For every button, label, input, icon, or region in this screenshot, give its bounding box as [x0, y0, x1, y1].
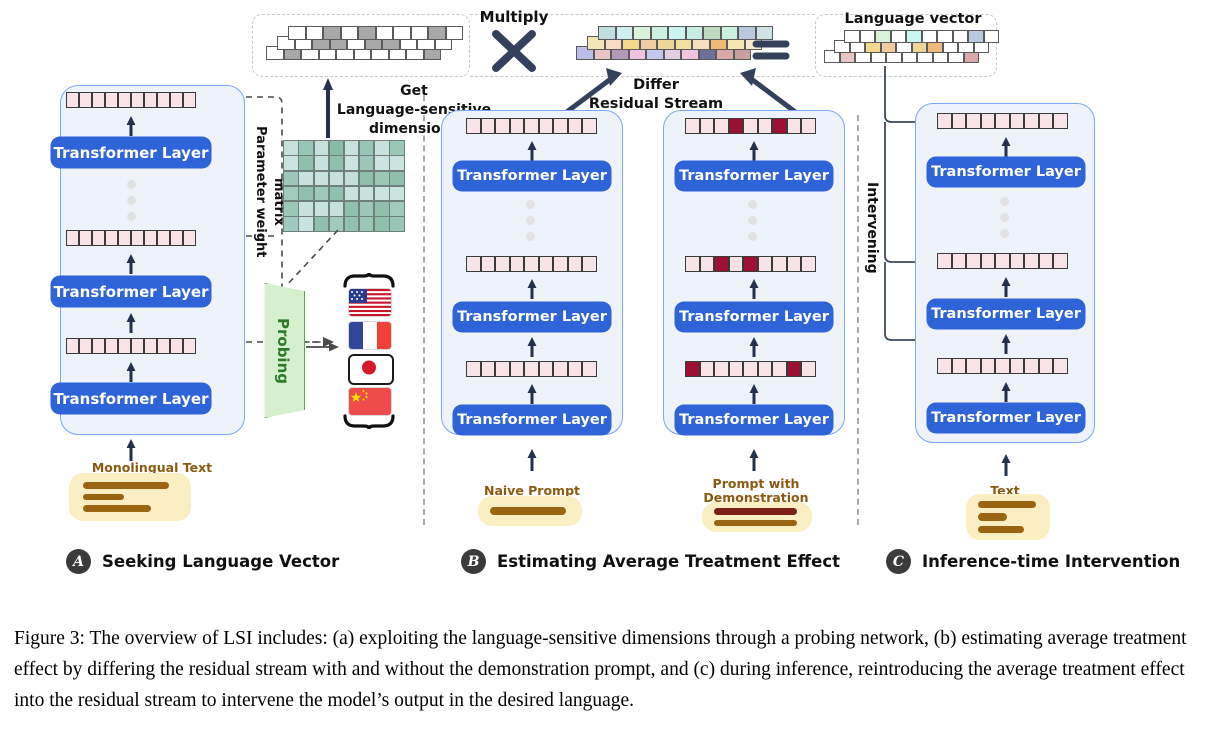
divider-b-c — [857, 115, 859, 525]
vector-cell — [906, 30, 922, 43]
vector-cell — [875, 30, 891, 43]
matrix-cell — [315, 172, 329, 186]
vector-cell — [510, 118, 525, 134]
vector-cell — [481, 256, 496, 272]
ellipsis-dots-a — [127, 180, 136, 221]
vector-cell — [481, 361, 496, 377]
matrix-cell — [390, 217, 404, 231]
vector-cell — [772, 118, 787, 134]
matrix-cell — [345, 156, 359, 170]
vector-cell — [568, 118, 583, 134]
vector-cell — [79, 92, 92, 108]
brace-top-icon — [342, 272, 396, 288]
vector-cell — [553, 361, 568, 377]
transformer-layer-b-demo-1: Transformer Layer — [676, 406, 832, 434]
vector-cell — [144, 92, 157, 108]
monolingual-text-bubble — [69, 473, 191, 521]
vector-cell — [714, 361, 729, 377]
vector-cell — [288, 26, 306, 40]
vector-cell — [510, 361, 525, 377]
prompt-with-demonstration-bubble — [702, 502, 812, 532]
vector-cell — [1053, 113, 1068, 129]
vector-cell — [131, 338, 144, 354]
vector-cell — [539, 361, 554, 377]
vector-cell — [922, 30, 938, 43]
matrix-cell — [299, 187, 313, 201]
vector-cell — [844, 30, 860, 43]
vector-cell — [1053, 253, 1068, 269]
arrow-up-icon — [999, 453, 1013, 477]
matrix-cell — [375, 156, 389, 170]
arrow-up-icon — [525, 278, 539, 300]
differ-residual-stream-label: Differ Residual Stream — [576, 76, 736, 114]
transformer-layer-b-demo-2: Transformer Layer — [676, 303, 832, 331]
matrix-cell — [299, 172, 313, 186]
vector-cell — [358, 26, 376, 40]
vector-cell — [118, 92, 131, 108]
vector-cell — [428, 26, 446, 40]
arrow-up-icon — [124, 311, 138, 335]
vector-cell — [582, 256, 597, 272]
vector-cell — [772, 256, 787, 272]
arrow-up-icon — [747, 140, 761, 162]
vector-cell — [952, 113, 967, 129]
vector-cell — [937, 113, 952, 129]
vector-cell — [495, 118, 510, 134]
matrix-cell — [330, 187, 344, 201]
vector-cell — [598, 26, 616, 40]
matrix-cell — [375, 202, 389, 216]
vector-cell — [1024, 253, 1039, 269]
vector-cell — [582, 361, 597, 377]
vector-cell — [92, 230, 105, 246]
matrix-cell — [360, 202, 374, 216]
flag-china-icon — [348, 387, 392, 416]
vector-cell — [743, 256, 758, 272]
matrix-cell — [390, 172, 404, 186]
matrix-cell — [284, 187, 298, 201]
section-title-b: Estimating Average Treatment Effect — [497, 552, 840, 571]
vector-cell — [568, 256, 583, 272]
vector-cell — [553, 256, 568, 272]
vector-cell — [758, 361, 773, 377]
vector-cell — [860, 30, 876, 43]
arrow-up-icon — [999, 276, 1013, 298]
vector-cell — [524, 256, 539, 272]
vector-cell — [1053, 358, 1068, 374]
vector-cell — [937, 358, 952, 374]
matrix-cell — [299, 141, 313, 155]
residual-stream-vectors — [576, 26, 762, 70]
vector-a-bottom — [66, 338, 196, 354]
vector-b-demo-middle — [685, 256, 816, 272]
vector-cell — [952, 253, 967, 269]
vector-cell — [937, 253, 952, 269]
arrow-up-icon — [525, 140, 539, 162]
vector-cell — [685, 256, 700, 272]
matrix-cell — [284, 156, 298, 170]
vector-cell — [105, 338, 118, 354]
vector-cell — [1039, 358, 1054, 374]
vector-cell — [758, 118, 773, 134]
vector-cell — [995, 358, 1010, 374]
vector-cell — [758, 256, 773, 272]
vector-cell — [1010, 253, 1025, 269]
matrix-cell — [345, 187, 359, 201]
vector-cell — [686, 26, 704, 40]
vector-cell — [981, 253, 996, 269]
language-vector-label: Language vector — [838, 10, 988, 29]
matrix-cell — [390, 156, 404, 170]
multiply-label: Multiply — [474, 8, 554, 27]
vector-cell — [66, 338, 79, 354]
vector-cell — [323, 26, 341, 40]
flag-united-states-icon — [348, 288, 392, 317]
section-title-c: Inference-time Intervention — [922, 552, 1180, 571]
vector-cell — [79, 230, 92, 246]
vector-cell — [952, 358, 967, 374]
stacked-vector-row — [288, 26, 463, 40]
vector-cell — [466, 361, 481, 377]
vector-cell — [79, 338, 92, 354]
vector-cell — [157, 92, 170, 108]
section-caption-c: C Inference-time Intervention — [886, 549, 1180, 574]
figure-caption: Figure 3: The overview of LSI includes: … — [14, 623, 1214, 716]
vector-cell — [66, 92, 79, 108]
matrix-cell — [330, 202, 344, 216]
vector-cell — [937, 30, 953, 43]
divider-a-b — [423, 85, 425, 525]
vector-b-naive-bottom — [466, 361, 597, 377]
vector-cell — [539, 118, 554, 134]
vector-cell — [131, 92, 144, 108]
vector-cell — [144, 338, 157, 354]
flag-japan-icon — [348, 354, 394, 385]
vector-cell — [685, 361, 700, 377]
parameter-weight-matrix — [283, 140, 405, 232]
stacked-vector-row — [844, 30, 999, 43]
matrix-cell — [375, 217, 389, 231]
vector-cell — [966, 113, 981, 129]
vector-cell — [1024, 113, 1039, 129]
language-sensitive-mask-vectors — [266, 26, 452, 70]
arrow-up-icon — [525, 448, 539, 472]
vector-a-top — [66, 92, 196, 108]
matrix-cell — [390, 202, 404, 216]
matrix-cell — [345, 141, 359, 155]
vector-cell — [651, 26, 669, 40]
vector-cell — [995, 113, 1010, 129]
matrix-cell — [299, 202, 313, 216]
equals-icon — [752, 36, 792, 62]
vector-cell — [891, 30, 907, 43]
section-badge-a: A — [66, 549, 91, 574]
section-badge-c: C — [886, 549, 911, 574]
vector-cell — [966, 253, 981, 269]
matrix-cell — [315, 156, 329, 170]
vector-cell — [105, 92, 118, 108]
vector-cell — [953, 30, 969, 43]
vector-cell — [582, 118, 597, 134]
transformer-layer-b-naive-3: Transformer Layer — [454, 162, 610, 190]
vector-cell — [495, 256, 510, 272]
vector-cell — [729, 256, 744, 272]
vector-cell — [118, 230, 131, 246]
transformer-layer-b-naive-2: Transformer Layer — [454, 303, 610, 331]
vector-cell — [539, 256, 554, 272]
vector-cell — [981, 113, 996, 129]
vector-cell — [131, 230, 144, 246]
flag-france-icon — [348, 321, 392, 350]
arrow-up-icon — [124, 252, 138, 276]
vector-b-naive-middle — [466, 256, 597, 272]
matrix-cell — [315, 187, 329, 201]
vector-cell — [633, 26, 651, 40]
vector-cell — [743, 361, 758, 377]
matrix-cell — [360, 141, 374, 155]
ellipsis-dots-b-demo — [748, 200, 757, 241]
arrow-up-icon — [999, 333, 1013, 355]
vector-cell — [668, 26, 686, 40]
vector-cell — [772, 361, 787, 377]
vector-cell — [393, 26, 411, 40]
vector-cell — [1010, 358, 1025, 374]
arrow-up-icon — [747, 383, 761, 405]
pwd-line1: Prompt with — [686, 477, 826, 491]
vector-c-top — [937, 113, 1068, 129]
vector-cell — [466, 256, 481, 272]
differ-line1: Differ — [576, 76, 736, 95]
matrix-cell — [299, 156, 313, 170]
matrix-cell — [330, 156, 344, 170]
vector-cell — [968, 30, 984, 43]
vector-a-middle — [66, 230, 196, 246]
matrix-cell — [330, 172, 344, 186]
vector-cell — [616, 26, 634, 40]
language-vector-cells — [824, 30, 989, 70]
vector-cell — [1039, 253, 1054, 269]
vector-cell — [157, 338, 170, 354]
pwm-line1: Parameter weight — [253, 126, 268, 258]
vector-cell — [495, 361, 510, 377]
vector-cell — [700, 118, 715, 134]
vector-cell — [685, 118, 700, 134]
matrix-cell — [390, 187, 404, 201]
vector-cell — [787, 361, 802, 377]
arrow-up-icon — [747, 336, 761, 358]
vector-cell — [801, 118, 816, 134]
vector-cell — [466, 118, 481, 134]
matrix-cell — [330, 141, 344, 155]
vector-cell — [787, 118, 802, 134]
text-bubble — [966, 494, 1050, 540]
get-line1: Get — [328, 82, 500, 101]
matrix-cell — [375, 141, 389, 155]
matrix-cell — [360, 156, 374, 170]
probing-label: Probing — [274, 318, 292, 384]
section-badge-b: B — [461, 549, 486, 574]
ellipsis-dots-c — [1000, 197, 1009, 238]
matrix-cell — [315, 202, 329, 216]
vector-cell — [729, 361, 744, 377]
vector-cell — [446, 26, 464, 40]
matrix-cell — [315, 141, 329, 155]
arrow-up-icon — [525, 336, 539, 358]
matrix-cell — [360, 172, 374, 186]
section-caption-b: B Estimating Average Treatment Effect — [461, 549, 840, 574]
vector-b-naive-top — [466, 118, 597, 134]
vector-cell — [92, 338, 105, 354]
vector-cell — [510, 256, 525, 272]
section-caption-a: A Seeking Language Vector — [66, 549, 339, 574]
vector-cell — [157, 230, 170, 246]
probing-network: Probing — [261, 283, 305, 418]
vector-cell — [981, 358, 996, 374]
vector-cell — [306, 26, 324, 40]
matrix-cell — [375, 187, 389, 201]
section-title-a: Seeking Language Vector — [102, 552, 339, 571]
vector-cell — [700, 361, 715, 377]
parameter-weight-matrix-label: Parameter weight — [251, 126, 270, 246]
vector-cell — [729, 118, 744, 134]
vector-cell — [714, 118, 729, 134]
arrow-up-icon — [124, 114, 138, 138]
matrix-cell — [345, 172, 359, 186]
brace-bottom-icon — [342, 414, 396, 430]
vector-cell — [1024, 358, 1039, 374]
vector-c-bottom — [937, 358, 1068, 374]
matrix-cell — [345, 202, 359, 216]
vector-cell — [376, 26, 394, 40]
vector-cell — [144, 230, 157, 246]
vector-cell — [1010, 113, 1025, 129]
figure-root: Multiply Language vector Transformer Lay… — [0, 0, 1228, 752]
vector-b-demo-bottom — [685, 361, 816, 377]
arrow-up-icon — [747, 278, 761, 300]
vector-cell — [118, 338, 131, 354]
vector-cell — [411, 26, 429, 40]
vector-cell — [92, 92, 105, 108]
vector-cell — [66, 230, 79, 246]
vector-cell — [787, 256, 802, 272]
vector-cell — [700, 256, 715, 272]
vector-b-demo-top — [685, 118, 816, 134]
transformer-layer-c-1: Transformer Layer — [928, 404, 1084, 432]
vector-cell — [801, 256, 816, 272]
arrow-right-icon — [306, 340, 340, 354]
matrix-cell — [284, 141, 298, 155]
vector-cell — [1039, 113, 1054, 129]
vector-cell — [714, 256, 729, 272]
transformer-layer-b-naive-1: Transformer Layer — [454, 406, 610, 434]
naive-prompt-bubble — [478, 496, 582, 526]
vector-cell — [105, 230, 118, 246]
vector-cell — [524, 118, 539, 134]
stacked-vector-row — [598, 26, 773, 40]
arrow-up-icon — [124, 360, 138, 384]
multiply-icon — [488, 28, 540, 74]
vector-cell — [966, 358, 981, 374]
transformer-layer-b-demo-3: Transformer Layer — [676, 162, 832, 190]
transformer-layer-c-2: Transformer Layer — [928, 300, 1084, 328]
vector-cell — [703, 26, 721, 40]
arrow-up-icon — [525, 383, 539, 405]
arrow-up-icon — [747, 448, 761, 472]
vector-cell — [801, 361, 816, 377]
matrix-cell — [284, 202, 298, 216]
vector-cell — [743, 118, 758, 134]
transformer-layer-c-3: Transformer Layer — [928, 158, 1084, 186]
vector-cell — [995, 253, 1010, 269]
ellipsis-dots-b-naive — [526, 200, 535, 241]
vector-cell — [568, 361, 583, 377]
matrix-cell — [360, 217, 374, 231]
vector-cell — [721, 26, 739, 40]
matrix-cell — [360, 187, 374, 201]
vector-cell — [984, 30, 1000, 43]
transformer-layer-a-1: Transformer Layer — [52, 384, 210, 413]
matrix-cell — [345, 217, 359, 231]
matrix-cell — [284, 172, 298, 186]
vector-cell — [524, 361, 539, 377]
vector-cell — [481, 118, 496, 134]
arrow-up-icon — [999, 381, 1013, 403]
vector-cell — [553, 118, 568, 134]
matrix-cell — [375, 172, 389, 186]
matrix-cell — [390, 141, 404, 155]
prompt-with-demonstration-label: Prompt with Demonstration — [686, 477, 826, 505]
vector-c-middle — [937, 253, 1068, 269]
matrix-to-probing-line — [276, 228, 346, 292]
arrow-up-icon — [999, 136, 1013, 158]
vector-cell — [341, 26, 359, 40]
